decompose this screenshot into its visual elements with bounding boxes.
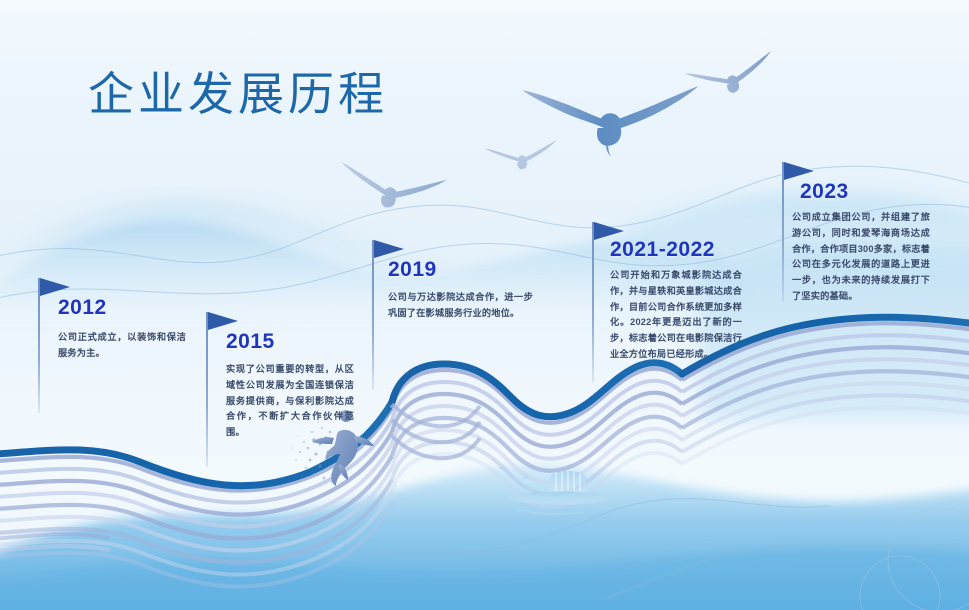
bird-silhouette-large bbox=[522, 86, 698, 156]
flag-icon bbox=[374, 240, 404, 258]
milestone-description: 公司成立集团公司，并组建了旅游公司，同时和爱琴海商场达成合作，合作项目300多家… bbox=[792, 210, 930, 305]
bird-silhouette-small-right bbox=[485, 140, 560, 173]
poster-canvas: 企业发展历程 2012 公司正式成立，以装饰和保洁服务为主。 2015 实现了公… bbox=[0, 0, 969, 610]
milestone-description: 实现了公司重要的转型，从区域性公司发展为全国连锁保洁服务提供商，与保利影院达成合… bbox=[226, 362, 354, 441]
milestone-year: 2019 bbox=[388, 258, 437, 282]
flag-pole bbox=[206, 312, 208, 467]
ribbon-tail bbox=[0, 534, 110, 552]
milestone-year: 2012 bbox=[58, 296, 107, 320]
milestone-description: 公司开始和万象城影院达成合作，并与星轶和英皇影城达成合作，目前公司合作系统更加多… bbox=[610, 268, 742, 363]
milestone-description: 公司与万达影院达成合作，进一步巩固了在影城服务行业的地位。 bbox=[388, 290, 533, 322]
flag-pole bbox=[38, 278, 40, 413]
bird-silhouette-small-left bbox=[335, 161, 447, 217]
bird-silhouette-top-right bbox=[684, 51, 778, 103]
flag-icon bbox=[208, 312, 238, 330]
milestone-year: 2021-2022 bbox=[610, 238, 715, 262]
flag-icon bbox=[784, 162, 814, 180]
fisherman-boat-silhouette bbox=[492, 458, 624, 524]
flag-icon bbox=[40, 278, 70, 296]
milestone-year: 2015 bbox=[226, 330, 275, 354]
milestone-year: 2023 bbox=[800, 180, 849, 204]
flag-pole bbox=[782, 162, 784, 302]
milestone-description: 公司正式成立，以装饰和保洁服务为主。 bbox=[58, 330, 186, 362]
flag-pole bbox=[592, 222, 594, 382]
flag-pole bbox=[372, 240, 374, 390]
page-title: 企业发展历程 bbox=[88, 58, 388, 124]
ribbon-fold bbox=[392, 404, 480, 458]
